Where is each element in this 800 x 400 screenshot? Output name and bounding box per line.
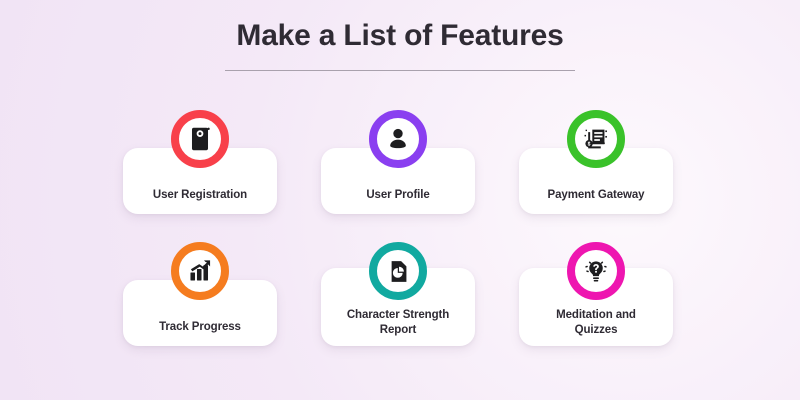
card-label: Meditation and Quizzes [556,308,636,337]
icon-ring-track-progress [171,242,229,300]
user-avatar-icon [385,126,411,152]
card-label: Payment Gateway [548,188,645,202]
card-label: Track Progress [159,320,241,334]
card-label: User Profile [366,188,429,202]
icon-ring-payment-gateway [567,110,625,168]
card-label: User Registration [153,188,247,202]
icon-ring-meditation-and-quizzes [567,242,625,300]
feature-card-user-profile[interactable]: User Profile [310,110,486,214]
icon-ring-user-registration [171,110,229,168]
feature-card-character-strength-report[interactable]: Character Strength Report [310,242,486,346]
feature-card-user-registration[interactable]: User Registration [112,110,288,214]
feature-card-payment-gateway[interactable]: Payment Gateway [508,110,684,214]
title-divider [225,70,575,71]
icon-ring-user-profile [369,110,427,168]
card-label: Character Strength Report [347,308,449,337]
feature-grid: User Registration User Profile [112,110,688,346]
pie-chart-document-icon [386,259,411,284]
feature-card-meditation-and-quizzes[interactable]: Meditation and Quizzes [508,242,684,346]
icon-ring-character-strength-report [369,242,427,300]
invoice-dollar-icon [583,126,609,152]
lightbulb-question-icon [583,258,609,284]
id-card-icon [187,126,213,152]
infographic-canvas: Make a List of Features User Registratio… [0,0,800,400]
header: Make a List of Features [0,18,800,71]
feature-card-track-progress[interactable]: Track Progress [112,242,288,346]
bar-chart-arrow-icon [187,258,213,284]
page-title: Make a List of Features [0,18,800,54]
